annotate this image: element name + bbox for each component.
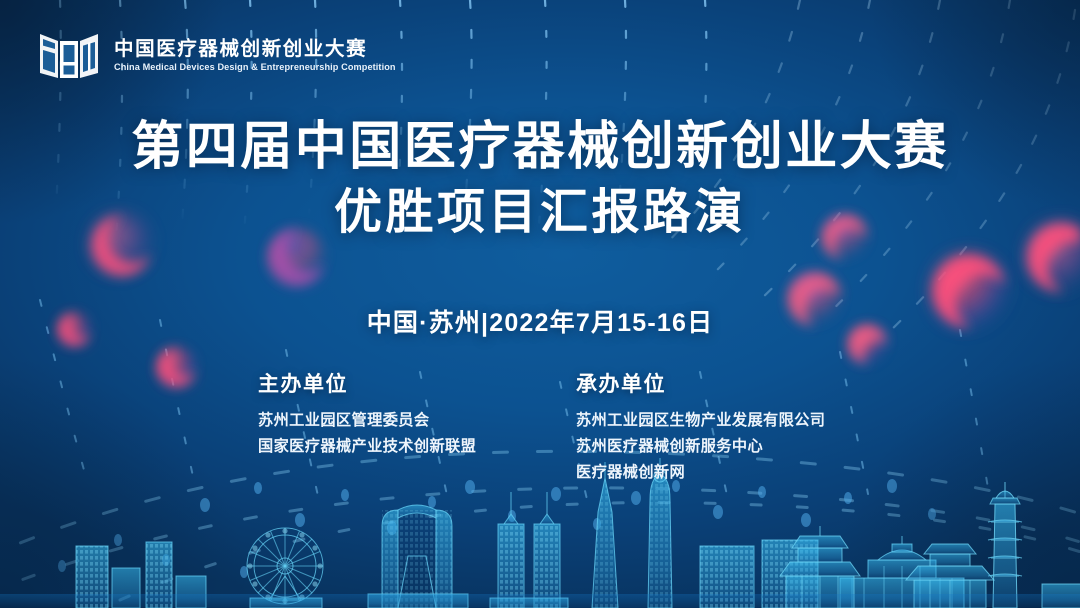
- date-location-line: 中国·苏州|2022年7月15-16日: [0, 303, 1080, 339]
- organizer-entry: 苏州工业园区生物产业发展有限公司: [576, 408, 848, 434]
- page-subtitle: 优胜项目汇报路演: [0, 186, 1080, 240]
- organizer-heading: 承办单位: [576, 368, 848, 398]
- brand-logo-bar: 中国医疗器械创新创业大赛 China Medical Devices Desig…: [38, 28, 400, 84]
- organizer-entry: 国家医疗器械产业技术创新联盟: [258, 434, 540, 460]
- brand-name-en: China Medical Devices Design & Entrepren…: [114, 63, 396, 72]
- page-title: 第四届中国医疗器械创新创业大赛: [0, 118, 1080, 176]
- organizer-heading: 主办单位: [258, 368, 540, 398]
- organizer-column-coorganizer: 承办单位 苏州工业园区生物产业发展有限公司 苏州医疗器械创新服务中心 医疗器械创…: [540, 368, 848, 486]
- ground-glow: [0, 594, 1080, 608]
- brand-name-cn: 中国医疗器械创新创业大赛: [114, 40, 400, 60]
- event-poster: 中国医疗器械创新创业大赛 China Medical Devices Desig…: [0, 0, 1080, 608]
- organizer-entry: 苏州工业园区管理委员会: [258, 408, 540, 434]
- organizer-entry: 医疗器械创新网: [576, 460, 848, 486]
- organizer-entry: 苏州医疗器械创新服务中心: [576, 434, 848, 460]
- open-door-window-logo-icon: [38, 28, 100, 84]
- hero-titles: 第四届中国医疗器械创新创业大赛 优胜项目汇报路演: [0, 118, 1080, 240]
- organizer-column-host: 主办单位 苏州工业园区管理委员会 国家医疗器械产业技术创新联盟: [232, 368, 540, 486]
- organizers-section: 主办单位 苏州工业园区管理委员会 国家医疗器械产业技术创新联盟 承办单位 苏州工…: [0, 368, 1080, 486]
- brand-text: 中国医疗器械创新创业大赛 China Medical Devices Desig…: [114, 40, 400, 72]
